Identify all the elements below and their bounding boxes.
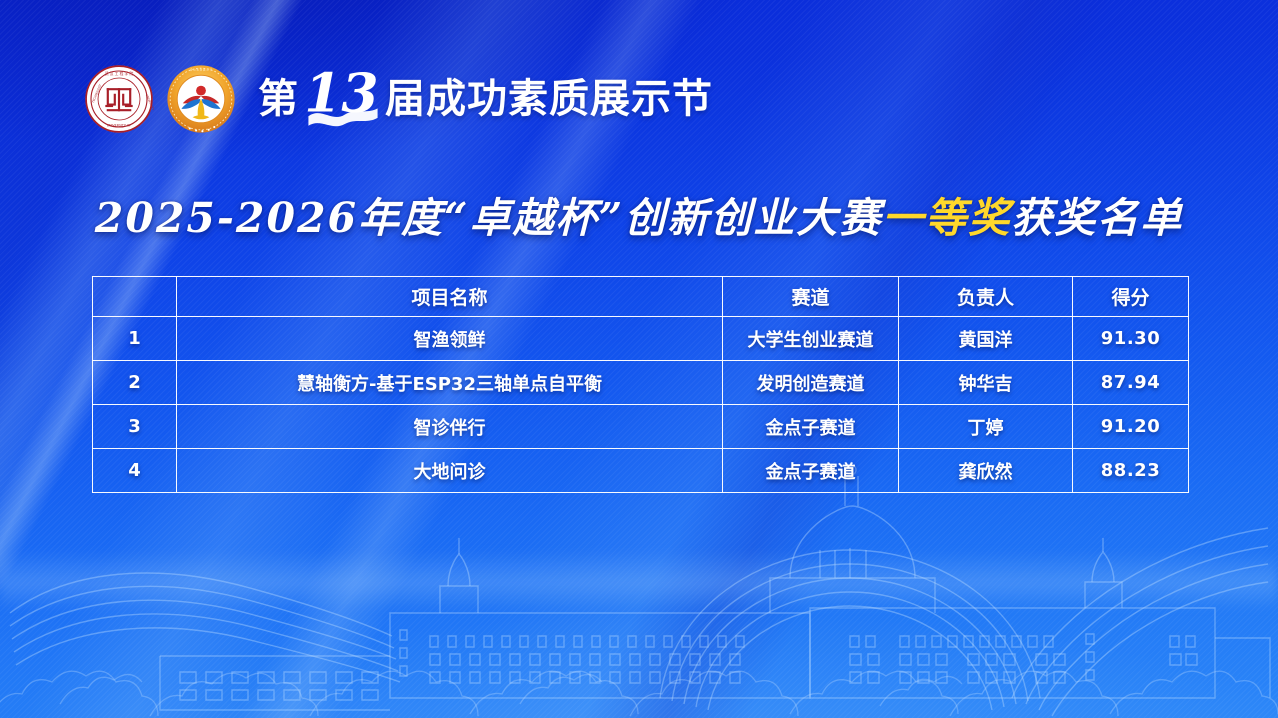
row-owner: 黄国洋	[899, 317, 1073, 361]
slide-canvas: 武 汉 工 程 学 院 UNIVERSITY OF TECHNOLOGY UNI…	[0, 0, 1278, 718]
row-score: 88.23	[1073, 449, 1189, 493]
row-index: 2	[93, 361, 177, 405]
svg-text:UNIVERSITY OF: UNIVERSITY OF	[107, 123, 132, 127]
row-track: 发明创造赛道	[723, 361, 899, 405]
brand-header: 武 汉 工 程 学 院 UNIVERSITY OF TECHNOLOGY UNI…	[84, 64, 713, 134]
column-header-track: 赛道	[723, 277, 899, 317]
table-header-row: 项目名称 赛道 负责人 得分	[93, 277, 1189, 317]
page-title: 2025-2026年度“卓越杯”创新创业大赛一等奖获奖名单	[0, 196, 1278, 241]
award-list-table: 项目名称 赛道 负责人 得分 1 智渔领鲜 大学生创业赛道 黄国洋 91.30 …	[92, 276, 1189, 493]
row-project-name: 智渔领鲜	[177, 317, 723, 361]
row-project-name: 慧轴衡方-基于ESP32三轴单点自平衡	[177, 361, 723, 405]
row-track: 金点子赛道	[723, 449, 899, 493]
festival-edition-number: 13	[303, 66, 383, 132]
award-table-container: 项目名称 赛道 负责人 得分 1 智渔领鲜 大学生创业赛道 黄国洋 91.30 …	[92, 276, 1188, 493]
row-score: 91.30	[1073, 317, 1189, 361]
row-track: 大学生创业赛道	[723, 317, 899, 361]
table-row: 4 大地问诊 金点子赛道 龚欣然 88.23	[93, 449, 1189, 493]
row-track: 金点子赛道	[723, 405, 899, 449]
column-header-owner: 负责人	[899, 277, 1073, 317]
festival-emblem-logo: 成 功 素 质 展 示 节	[166, 64, 236, 134]
table-row: 1 智渔领鲜 大学生创业赛道 黄国洋 91.30	[93, 317, 1189, 361]
title-segment-primary: 2025-2026年度“卓越杯”创新创业大赛	[95, 194, 882, 242]
column-header-score: 得分	[1073, 277, 1189, 317]
row-owner: 丁婷	[899, 405, 1073, 449]
title-segment-suffix: 获奖名单	[1011, 194, 1183, 242]
title-segment-award-level: 一等奖	[882, 194, 1011, 242]
row-owner: 龚欣然	[899, 449, 1073, 493]
row-project-name: 大地问诊	[177, 449, 723, 493]
table-row: 2 慧轴衡方-基于ESP32三轴单点自平衡 发明创造赛道 钟华吉 87.94	[93, 361, 1189, 405]
row-score: 87.94	[1073, 361, 1189, 405]
festival-suffix: 届成功素质展示节	[385, 79, 713, 119]
table-row: 3 智诊伴行 金点子赛道 丁婷 91.20	[93, 405, 1189, 449]
row-score: 91.20	[1073, 405, 1189, 449]
ground-mist-glow	[0, 550, 1278, 610]
festival-prefix: 第	[258, 79, 299, 119]
row-project-name: 智诊伴行	[177, 405, 723, 449]
svg-text:成 功 素 质 展 示 节: 成 功 素 质 展 示 节	[190, 67, 213, 71]
row-index: 4	[93, 449, 177, 493]
festival-title: 第 13 届成功素质展示节	[258, 66, 713, 132]
university-seal-logo: 武 汉 工 程 学 院 UNIVERSITY OF TECHNOLOGY UNI…	[84, 64, 154, 134]
svg-text:武 汉 工 程 学 院: 武 汉 工 程 学 院	[105, 71, 134, 76]
row-index: 1	[93, 317, 177, 361]
column-header-index	[93, 277, 177, 317]
row-index: 3	[93, 405, 177, 449]
column-header-name: 项目名称	[177, 277, 723, 317]
row-owner: 钟华吉	[899, 361, 1073, 405]
